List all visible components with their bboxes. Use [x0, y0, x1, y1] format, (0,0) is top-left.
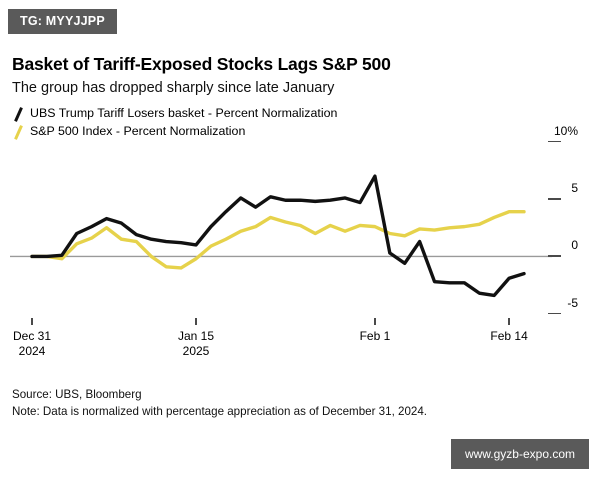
x-axis-tick: Jan 152025 [156, 318, 236, 348]
y-axis-tick-label: 5 [571, 181, 578, 195]
source-note: Source: UBS, Bloomberg [12, 387, 572, 404]
x-axis-tick-label: Dec 31 [0, 329, 72, 344]
legend-swatch-slash-icon [12, 108, 25, 121]
x-axis-tick: Feb 14 [469, 318, 549, 333]
x-axis-tick-year: 2024 [0, 344, 72, 359]
y-axis-tick-mark [548, 255, 561, 257]
y-axis-tick-label: 0 [571, 238, 578, 252]
data-note: Note: Data is normalized with percentage… [12, 404, 572, 421]
y-axis: 10%50-5 [538, 136, 596, 336]
y-axis-tick-mark [548, 198, 561, 200]
x-axis-tick-label: Feb 14 [469, 329, 549, 344]
x-axis-tick-mark [31, 318, 32, 325]
series-line-ubs [32, 176, 524, 295]
y-axis-tick-label: 10% [554, 124, 578, 138]
watermark-badge: www.gyzb-expo.com [451, 439, 589, 469]
x-axis-tick: Feb 1 [335, 318, 415, 333]
chart-subtitle: The group has dropped sharply since late… [12, 80, 572, 97]
y-axis-tick: 10% [538, 125, 578, 137]
y-axis-tick: -5 [538, 297, 578, 309]
x-axis-tick-label: Feb 1 [335, 329, 415, 344]
x-axis-tick-mark [195, 318, 196, 325]
y-axis-tick-label: -5 [567, 296, 578, 310]
legend-item-label: UBS Trump Tariff Losers basket - Percent… [30, 107, 337, 121]
page-title: Basket of Tariff-Exposed Stocks Lags S&P… [12, 54, 572, 74]
x-axis-tick-mark [374, 318, 375, 325]
y-axis-tick-mark [548, 313, 561, 315]
x-axis: Dec 312024Jan 152025Feb 1Feb 14 [0, 318, 600, 380]
x-axis-tick-year: 2025 [156, 344, 236, 359]
chart-plot-area [0, 136, 600, 331]
legend-item-ubs: UBS Trump Tariff Losers basket - Percent… [12, 106, 572, 122]
line-chart-svg [0, 136, 600, 331]
telegram-badge: TG: MYYJJPP [8, 9, 117, 34]
x-axis-tick: Dec 312024 [0, 318, 72, 348]
y-axis-tick: 0 [538, 239, 578, 251]
y-axis-tick: 5 [538, 182, 578, 194]
x-axis-tick-label: Jan 15 [156, 329, 236, 344]
y-axis-tick-mark [548, 141, 561, 143]
chart-header: Basket of Tariff-Exposed Stocks Lags S&P… [12, 54, 572, 98]
chart-footnotes: Source: UBS, Bloomberg Note: Data is nor… [12, 387, 572, 421]
x-axis-tick-mark [508, 318, 509, 325]
